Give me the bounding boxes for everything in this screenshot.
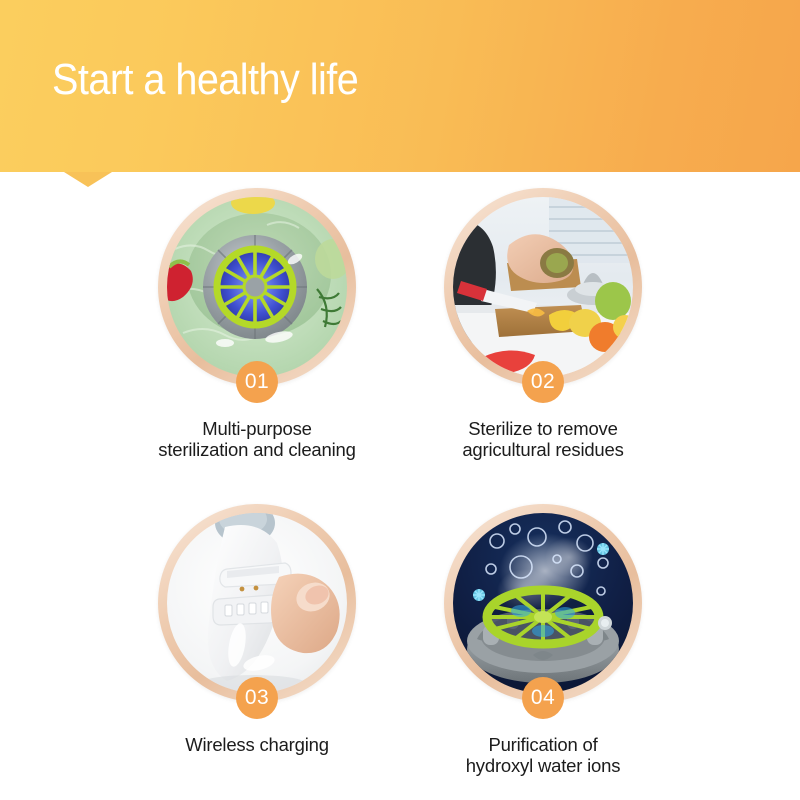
feature-badge-01: 01 bbox=[236, 361, 278, 403]
white-device-charging-connector-photo bbox=[167, 513, 347, 693]
hands-cutting-fruit-in-kitchen-photo bbox=[453, 197, 633, 377]
device-in-bowl-of-vegetables-photo bbox=[167, 197, 347, 377]
feature-badge-02: 02 bbox=[522, 361, 564, 403]
feature-grid: 01 Multi-purpose sterilization and clean… bbox=[0, 186, 800, 800]
feature-card-03[interactable]: 03 Wireless charging bbox=[92, 504, 422, 755]
feature-image-03 bbox=[167, 513, 347, 693]
device-underwater-with-bubbles-photo bbox=[453, 513, 633, 693]
banner-pointer-triangle bbox=[64, 172, 112, 187]
feature-card-02[interactable]: 02 Sterilize to remove agricultural resi… bbox=[378, 188, 708, 460]
feature-badge-04: 04 bbox=[522, 677, 564, 719]
feature-caption-02: Sterilize to remove agricultural residue… bbox=[378, 418, 708, 460]
feature-image-04 bbox=[453, 513, 633, 693]
feature-image-02 bbox=[453, 197, 633, 377]
page-title: Start a healthy life bbox=[52, 54, 358, 106]
feature-image-01 bbox=[167, 197, 347, 377]
header-banner: Start a healthy life bbox=[0, 0, 800, 172]
feature-caption-03: Wireless charging bbox=[92, 734, 422, 755]
feature-badge-03: 03 bbox=[236, 677, 278, 719]
feature-caption-04: Purification of hydroxyl water ions bbox=[378, 734, 708, 776]
infographic-page: Start a healthy life bbox=[0, 0, 800, 800]
feature-circle-04: 04 bbox=[444, 504, 642, 702]
feature-circle-01: 01 bbox=[158, 188, 356, 386]
feature-card-01[interactable]: 01 Multi-purpose sterilization and clean… bbox=[92, 188, 422, 460]
feature-card-04[interactable]: 04 Purification of hydroxyl water ions bbox=[378, 504, 708, 776]
feature-caption-01: Multi-purpose sterilization and cleaning bbox=[92, 418, 422, 460]
feature-circle-03: 03 bbox=[158, 504, 356, 702]
feature-circle-02: 02 bbox=[444, 188, 642, 386]
